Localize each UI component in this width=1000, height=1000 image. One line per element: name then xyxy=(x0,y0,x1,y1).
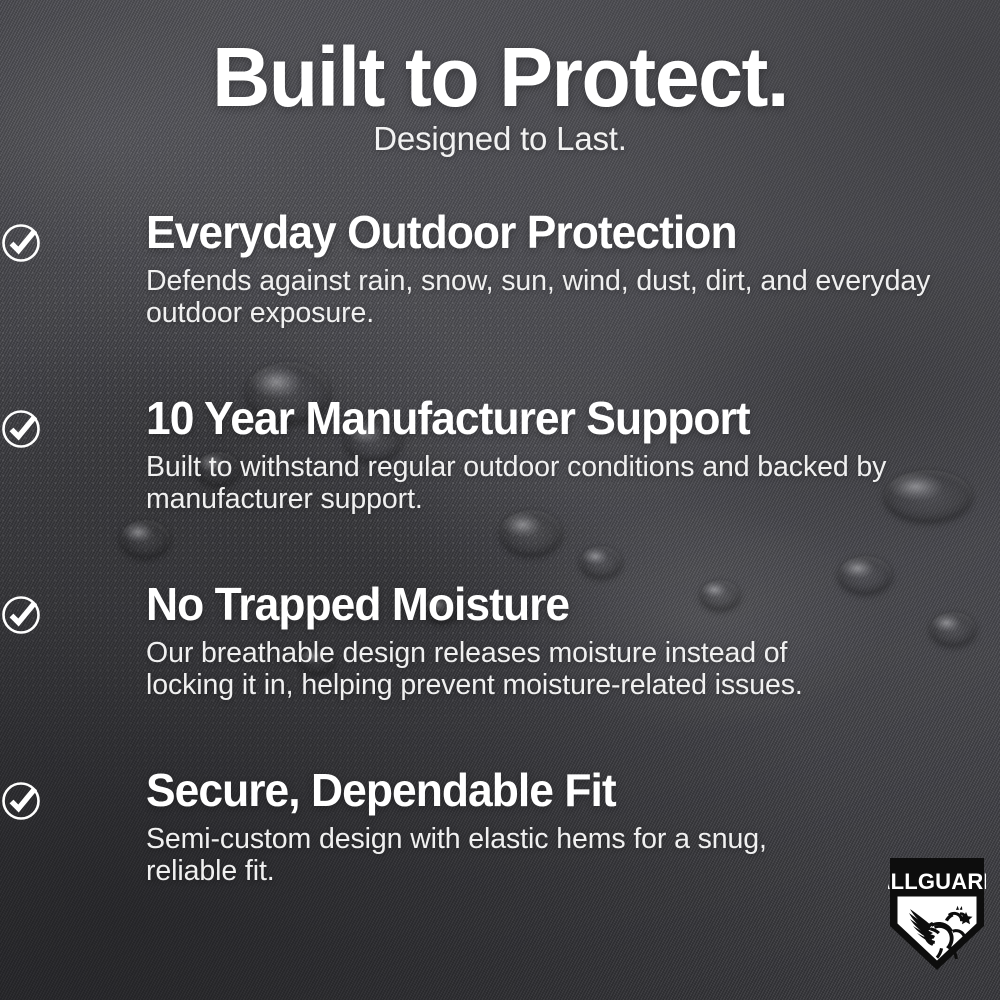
feature-title: No Trapped Moisture xyxy=(146,580,970,629)
check-circle-icon xyxy=(0,408,42,450)
feature-description-line: Defends against rain, snow, sun, wind, d… xyxy=(146,265,936,297)
feature-item: No Trapped Moisture Our breathable desig… xyxy=(0,580,1000,766)
feature-description: Our breathable design releases moisture … xyxy=(146,637,936,702)
feature-description-line: Semi-custom design with elastic hems for… xyxy=(146,823,936,855)
logo-wordmark: ALLGUARD xyxy=(888,869,986,894)
feature-description-line: Built to withstand regular outdoor condi… xyxy=(146,451,936,483)
check-circle-icon xyxy=(0,222,42,264)
feature-description: Built to withstand regular outdoor condi… xyxy=(146,451,936,516)
feature-item: 10 Year Manufacturer Support Built to wi… xyxy=(0,394,1000,580)
page-title: Built to Protect. xyxy=(20,34,980,121)
feature-list: Everyday Outdoor Protection Defends agai… xyxy=(0,208,1000,952)
feature-description: Defends against rain, snow, sun, wind, d… xyxy=(146,265,936,330)
feature-description-line: reliable fit. xyxy=(146,855,936,887)
feature-text: 10 Year Manufacturer Support Built to wi… xyxy=(78,394,1000,516)
feature-title: Secure, Dependable Fit xyxy=(146,766,970,815)
feature-text: Secure, Dependable Fit Semi-custom desig… xyxy=(78,766,1000,888)
feature-title: 10 Year Manufacturer Support xyxy=(146,394,970,443)
check-circle-icon xyxy=(0,594,42,636)
feature-title: Everyday Outdoor Protection xyxy=(146,208,970,257)
feature-text: Everyday Outdoor Protection Defends agai… xyxy=(78,208,1000,330)
marketing-infographic: Built to Protect. Designed to Last. Ever… xyxy=(0,0,1000,1000)
feature-description: Semi-custom design with elastic hems for… xyxy=(146,823,936,888)
allguard-logo: ALLGUARD xyxy=(888,856,986,972)
feature-description-line: locking it in, helping prevent moisture-… xyxy=(146,669,936,701)
content-overlay: Built to Protect. Designed to Last. Ever… xyxy=(0,0,1000,1000)
page-subtitle: Designed to Last. xyxy=(0,120,1000,158)
check-circle-icon xyxy=(0,780,42,822)
feature-item: Secure, Dependable Fit Semi-custom desig… xyxy=(0,766,1000,952)
feature-description-line: Our breathable design releases moisture … xyxy=(146,637,936,669)
feature-description-line: outdoor exposure. xyxy=(146,297,936,329)
feature-description-line: manufacturer support. xyxy=(146,483,936,515)
feature-item: Everyday Outdoor Protection Defends agai… xyxy=(0,208,1000,394)
feature-text: No Trapped Moisture Our breathable desig… xyxy=(78,580,1000,702)
